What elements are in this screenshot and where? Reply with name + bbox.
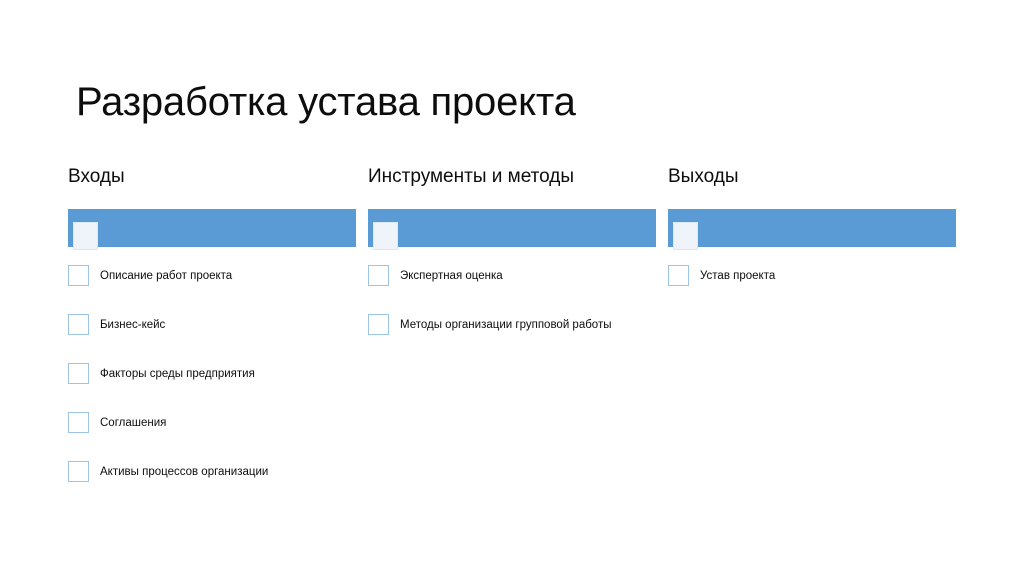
list-item[interactable]: Активы процессов организации [68, 458, 356, 485]
list-item-label: Описание работ проекта [100, 269, 232, 283]
columns-container: Входы Описание работ проекта Бизнес-кейс… [0, 0, 1024, 574]
banner-bar-tools-and-techniques [368, 209, 656, 247]
list-item-label: Устав проекта [700, 269, 775, 283]
banner-marker-icon [373, 222, 398, 250]
checkbox-icon[interactable] [368, 314, 389, 335]
column-header-outputs: Выходы [668, 165, 956, 189]
checkbox-icon[interactable] [68, 314, 89, 335]
column-tools-and-techniques: Инструменты и методы Экспертная оценка М… [368, 165, 656, 360]
list-item-label: Экспертная оценка [400, 269, 503, 283]
column-inputs: Входы Описание работ проекта Бизнес-кейс… [68, 165, 356, 507]
checkbox-icon[interactable] [368, 265, 389, 286]
column-header-inputs: Входы [68, 165, 356, 189]
item-list-outputs: Устав проекта [668, 262, 956, 289]
list-item-label: Методы организации групповой работы [400, 318, 612, 332]
checkbox-icon[interactable] [68, 363, 89, 384]
list-item[interactable]: Бизнес-кейс [68, 311, 356, 338]
item-list-tools-and-techniques: Экспертная оценка Методы организации гру… [368, 262, 656, 338]
list-item[interactable]: Соглашения [68, 409, 356, 436]
list-item[interactable]: Устав проекта [668, 262, 956, 289]
column-header-tools-and-techniques: Инструменты и методы [368, 165, 656, 189]
checkbox-icon[interactable] [68, 461, 89, 482]
checkbox-icon[interactable] [668, 265, 689, 286]
checkbox-icon[interactable] [68, 265, 89, 286]
list-item[interactable]: Методы организации групповой работы [368, 311, 656, 338]
item-list-inputs: Описание работ проекта Бизнес-кейс Факто… [68, 262, 356, 485]
slide-canvas: Разработка устава проекта Входы Описание… [0, 0, 1024, 574]
list-item-label: Активы процессов организации [100, 465, 268, 479]
list-item[interactable]: Описание работ проекта [68, 262, 356, 289]
list-item[interactable]: Факторы среды предприятия [68, 360, 356, 387]
list-item[interactable]: Экспертная оценка [368, 262, 656, 289]
list-item-label: Бизнес-кейс [100, 318, 165, 332]
banner-bar-outputs [668, 209, 956, 247]
checkbox-icon[interactable] [68, 412, 89, 433]
column-outputs: Выходы Устав проекта [668, 165, 956, 311]
banner-marker-icon [673, 222, 698, 250]
list-item-label: Факторы среды предприятия [100, 367, 255, 381]
banner-marker-icon [73, 222, 98, 250]
banner-bar-inputs [68, 209, 356, 247]
list-item-label: Соглашения [100, 416, 166, 430]
